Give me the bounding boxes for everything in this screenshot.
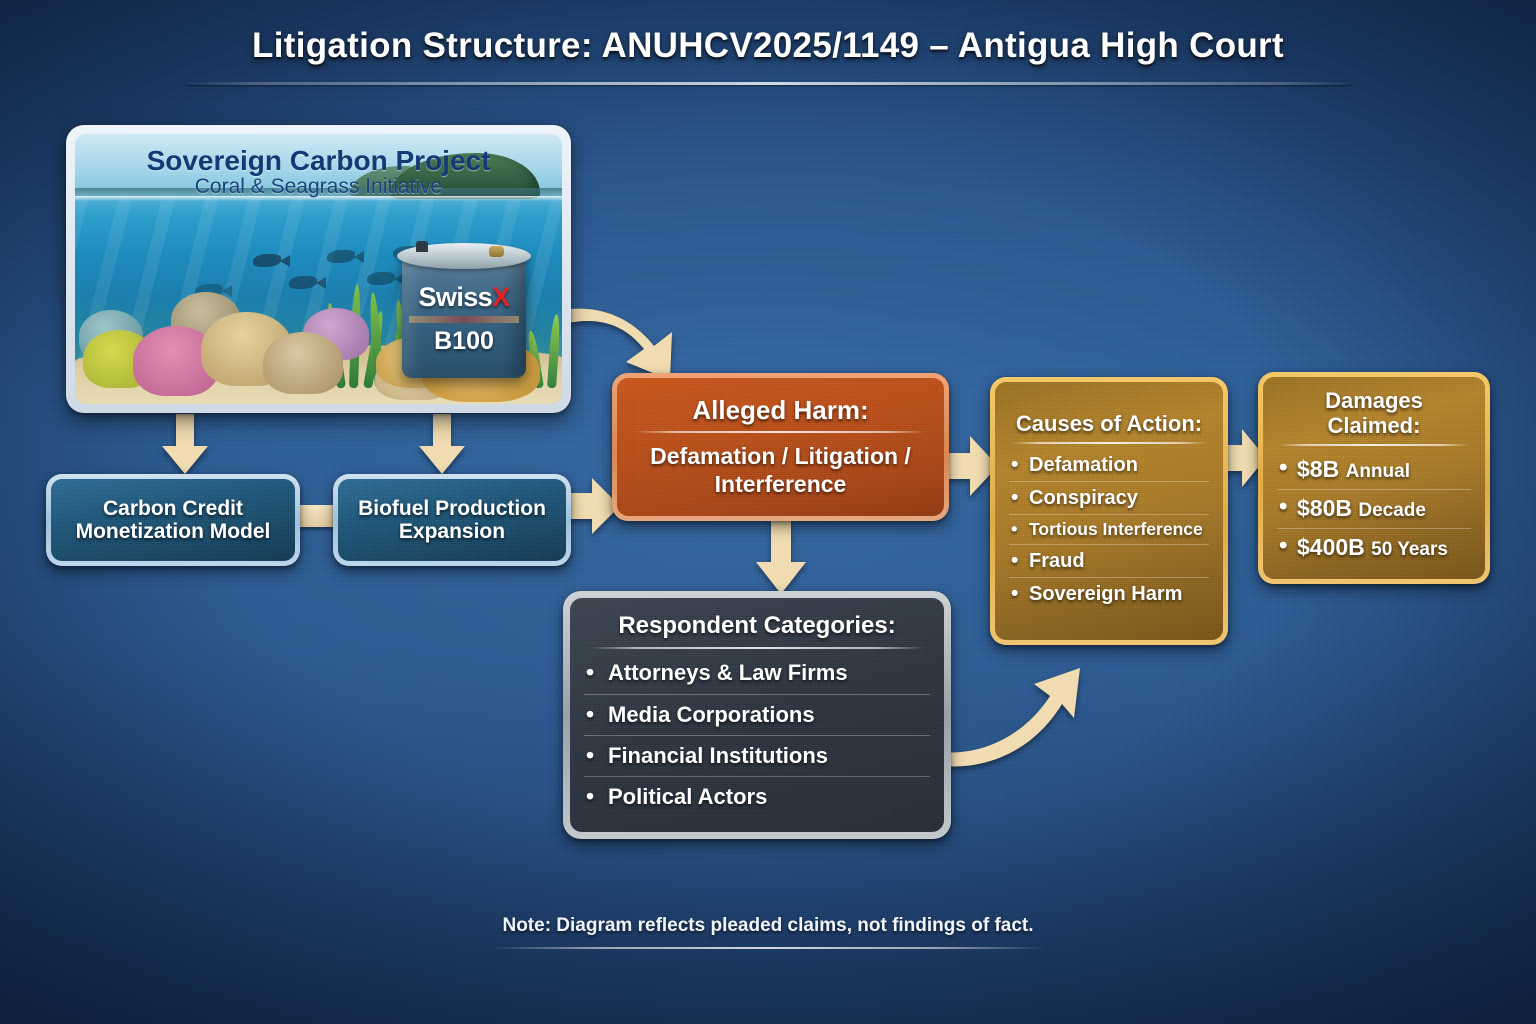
node-respondent-categories[interactable]: Respondent Categories: Attorneys & Law F… (563, 591, 951, 839)
node-surface: Carbon Credit Monetization Model (51, 479, 295, 561)
node-carbon-credit[interactable]: Carbon Credit Monetization Model (46, 474, 300, 566)
node-divider (635, 431, 926, 433)
list-item[interactable]: Political Actors (584, 776, 930, 817)
node-title-line2: Expansion (352, 520, 552, 543)
node-divider (1011, 442, 1207, 444)
node-alleged-harm[interactable]: Alleged Harm: Defamation / Litigation / … (612, 373, 949, 521)
card-title: Sovereign Carbon Project (75, 146, 562, 175)
node-title-line1: Carbon Credit (65, 497, 281, 520)
node-title-line1: Biofuel Production (352, 497, 552, 520)
card-subtitle: Coral & Seagrass Initiative (75, 175, 562, 198)
tank-knob-icon (416, 241, 428, 252)
tank-label: SwissX B100 (402, 282, 526, 356)
node-content: Carbon Credit Monetization Model (51, 479, 295, 561)
node-divider (590, 647, 924, 649)
title-divider (186, 82, 1351, 85)
tank-brand-name: SwissX (402, 282, 526, 313)
footer-note: Note: Diagram reflects pleaded claims, n… (502, 915, 1033, 943)
node-content: Causes of Action: Defamation Conspiracy … (995, 382, 1223, 640)
node-content: Biofuel Production Expansion (338, 479, 566, 561)
node-title: Causes of Action: (1009, 412, 1209, 436)
arrow-alleged-harm-to-respondents (750, 518, 812, 596)
damage-amount: $8B (1297, 456, 1339, 482)
footer-note-area: Note: Diagram reflects pleaded claims, n… (0, 915, 1536, 949)
causes-of-action-list: Defamation Conspiracy Tortious Interfere… (1009, 449, 1209, 610)
arrow-card-to-alleged-harm (560, 276, 695, 386)
node-divider (1279, 444, 1469, 446)
list-item[interactable]: Sovereign Harm (1009, 577, 1209, 610)
node-title: Alleged Harm: (631, 396, 930, 425)
tank-fuel-grade: B100 (402, 327, 526, 356)
node-title-line2: Monetization Model (65, 520, 281, 543)
damage-amount: $400B (1297, 534, 1365, 560)
node-body-line1: Defamation / Litigation / (631, 442, 930, 470)
list-item[interactable]: Attorneys & Law Firms (584, 653, 930, 693)
tank-brand-text: Swiss (419, 282, 493, 312)
node-surface: Biofuel Production Expansion (338, 479, 566, 561)
arrow-card-to-carbon-credit (155, 414, 215, 476)
list-item[interactable]: Defamation (1009, 449, 1209, 481)
node-surface: Respondent Categories: Attorneys & Law F… (570, 598, 944, 832)
node-surface: Alleged Harm: Defamation / Litigation / … (617, 378, 944, 516)
card-heading: Sovereign Carbon Project Coral & Seagras… (75, 146, 562, 198)
node-biofuel-production[interactable]: Biofuel Production Expansion (333, 474, 571, 566)
tank-cap-icon (489, 246, 504, 257)
tank-brand-x-icon: X (492, 282, 509, 312)
respondent-categories-list: Attorneys & Law Firms Media Corporations… (584, 653, 930, 817)
swissx-biofuel-tank: SwissX B100 (402, 254, 526, 378)
page-title-area: Litigation Structure: ANUHCV2025/1149 – … (0, 26, 1536, 85)
node-causes-of-action[interactable]: Causes of Action: Defamation Conspiracy … (990, 377, 1228, 645)
damage-amount: $80B (1297, 495, 1352, 521)
node-surface: Damages Claimed: $8B Annual $80B Decade … (1263, 377, 1485, 579)
node-title: Respondent Categories: (584, 613, 930, 639)
sovereign-carbon-project-card: SwissX B100 Sovereign Carbon Project Cor… (66, 125, 571, 413)
list-item[interactable]: $8B Annual (1277, 451, 1471, 489)
node-body-line2: Interference (631, 470, 930, 498)
list-item[interactable]: Conspiracy (1009, 481, 1209, 514)
node-surface: Causes of Action: Defamation Conspiracy … (995, 382, 1223, 640)
damage-qualifier: Annual (1346, 461, 1410, 482)
connector-carbon-to-biofuel (300, 505, 333, 527)
arrow-card-to-biofuel (412, 414, 472, 476)
node-content: Respondent Categories: Attorneys & Law F… (570, 598, 944, 832)
infographic-canvas: Litigation Structure: ANUHCV2025/1149 – … (0, 0, 1536, 1024)
coral-cluster (263, 332, 343, 394)
node-content: Alleged Harm: Defamation / Litigation / … (617, 378, 944, 516)
underwater-scene-illustration: SwissX B100 Sovereign Carbon Project Cor… (75, 134, 562, 404)
list-item[interactable]: Fraud (1009, 544, 1209, 577)
damage-qualifier: Decade (1358, 500, 1426, 521)
damage-qualifier: 50 Years (1371, 539, 1448, 560)
list-item[interactable]: Financial Institutions (584, 735, 930, 776)
list-item[interactable]: Media Corporations (584, 694, 930, 735)
list-item[interactable]: Tortious Interference (1009, 514, 1209, 544)
list-item[interactable]: $400B 50 Years (1277, 528, 1471, 567)
damages-list: $8B Annual $80B Decade $400B 50 Years (1277, 451, 1471, 567)
node-content: Damages Claimed: $8B Annual $80B Decade … (1263, 377, 1485, 579)
arrow-respondents-to-causes (938, 640, 1086, 770)
node-damages-claimed[interactable]: Damages Claimed: $8B Annual $80B Decade … (1258, 372, 1490, 584)
footer-divider (490, 947, 1046, 949)
tank-stripe (409, 316, 518, 323)
page-title: Litigation Structure: ANUHCV2025/1149 – … (252, 26, 1284, 74)
list-item[interactable]: $80B Decade (1277, 489, 1471, 528)
node-title: Damages Claimed: (1277, 389, 1471, 437)
